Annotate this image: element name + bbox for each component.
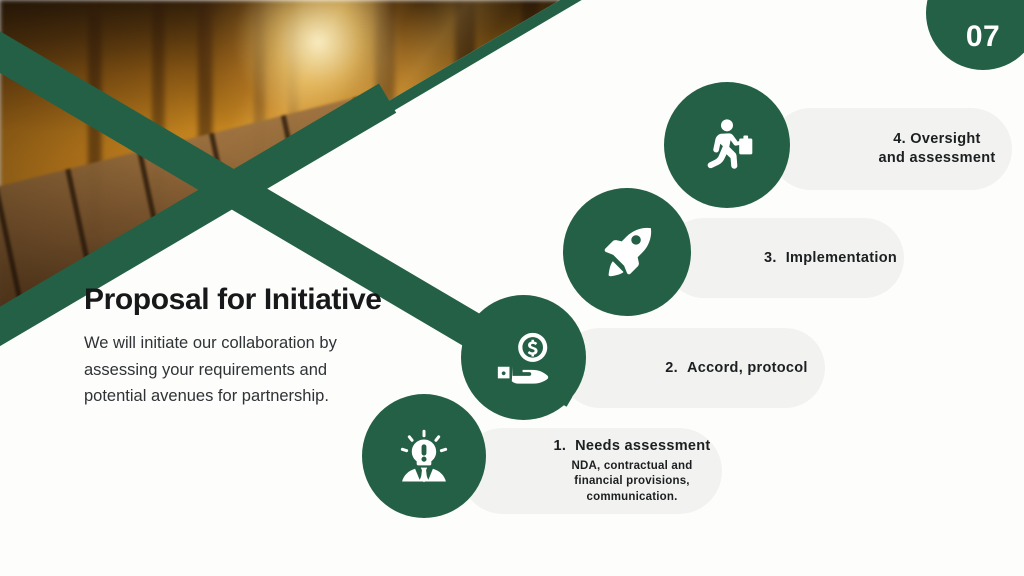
step-4-text: 4. Oversight and assessment xyxy=(774,130,1007,168)
walking-person-briefcase-icon xyxy=(697,115,757,175)
rocket-icon xyxy=(596,221,658,283)
step-1-pill[interactable]: 1. Needs assessment NDA, contractual and… xyxy=(460,428,722,514)
step-4-title-line2: and assessment xyxy=(878,149,995,168)
step-2-pill[interactable]: 2. Accord, protocol xyxy=(560,328,825,408)
step-1-description: NDA, contractual and financial provision… xyxy=(552,459,712,505)
step-3-text: 3. Implementation xyxy=(664,249,907,268)
step-2-text: 2. Accord, protocol xyxy=(567,359,818,378)
step-4-icon-circle[interactable] xyxy=(664,82,790,208)
slide-canvas: 07 Proposal for Initiative We will initi… xyxy=(0,0,1024,576)
step-2-number: 2. xyxy=(665,359,678,378)
page-number-label: 07 xyxy=(966,20,1000,54)
step-3-icon-circle[interactable] xyxy=(563,188,691,316)
step-3-pill[interactable]: 3. Implementation xyxy=(664,218,904,298)
step-1-text: 1. Needs assessment NDA, contractual and… xyxy=(460,437,722,504)
step-4-pill[interactable]: 4. Oversight and assessment xyxy=(770,108,1012,190)
idea-person-icon xyxy=(394,426,454,486)
page-subtitle: We will initiate our collaboration by as… xyxy=(84,330,384,410)
step-4-title-line1: 4. Oversight xyxy=(878,130,995,149)
hand-holding-coin-icon xyxy=(493,327,555,389)
step-1-icon-circle[interactable] xyxy=(362,394,486,518)
step-2-title: Accord, protocol xyxy=(687,359,808,378)
step-3-title: Implementation xyxy=(786,249,897,268)
step-1-title: Needs assessment xyxy=(575,437,710,456)
step-1-number: 1. xyxy=(553,437,566,456)
step-2-icon-circle[interactable] xyxy=(461,295,586,420)
step-3-number: 3. xyxy=(764,249,777,268)
page-title: Proposal for Initiative xyxy=(84,283,454,316)
text-block: Proposal for Initiative We will initiate… xyxy=(84,283,454,410)
page-number-badge: 07 xyxy=(926,0,1024,70)
